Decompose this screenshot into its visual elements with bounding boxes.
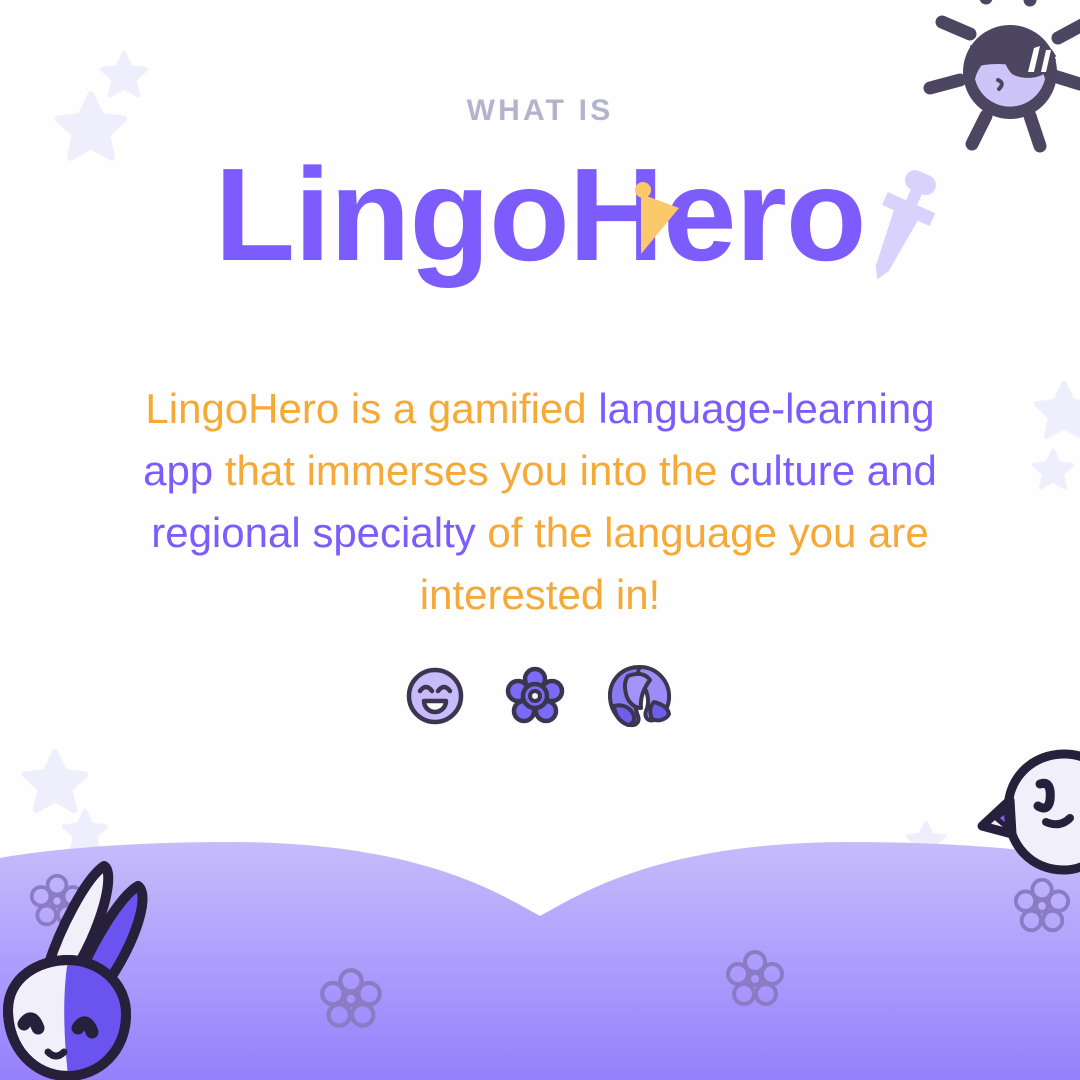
description-segment: that immerses you into the xyxy=(225,447,729,494)
page-title: LingoHero xyxy=(215,142,866,287)
sword-icon xyxy=(857,162,943,290)
bird-character xyxy=(972,748,1080,876)
eyebrow-label: WHAT IS xyxy=(0,96,1080,126)
bunny-character xyxy=(0,838,196,1080)
ground-flower-decoration xyxy=(724,948,786,1010)
icon-row xyxy=(0,662,1080,730)
ground-flower-decoration xyxy=(318,966,384,1032)
flower-icon xyxy=(504,665,566,727)
ground-flower-decoration xyxy=(1012,876,1072,936)
description-text: LingoHero is a gamified language-learnin… xyxy=(108,378,972,627)
star-decoration xyxy=(22,748,88,814)
croissant-icon xyxy=(604,662,676,730)
star-decoration xyxy=(100,50,148,98)
star-decoration xyxy=(1032,448,1074,490)
description-segment: of the language you are interested in! xyxy=(420,509,929,618)
brand-wrap: LingoHero xyxy=(215,142,866,287)
poster-canvas: WHAT IS LingoHero LingoHero is a gamifie… xyxy=(0,0,1080,1080)
header-block: WHAT IS LingoHero xyxy=(0,96,1080,287)
star-decoration xyxy=(1034,380,1080,440)
description-segment: LingoHero is a gamified xyxy=(145,385,598,432)
smiley-face-icon xyxy=(404,665,466,727)
